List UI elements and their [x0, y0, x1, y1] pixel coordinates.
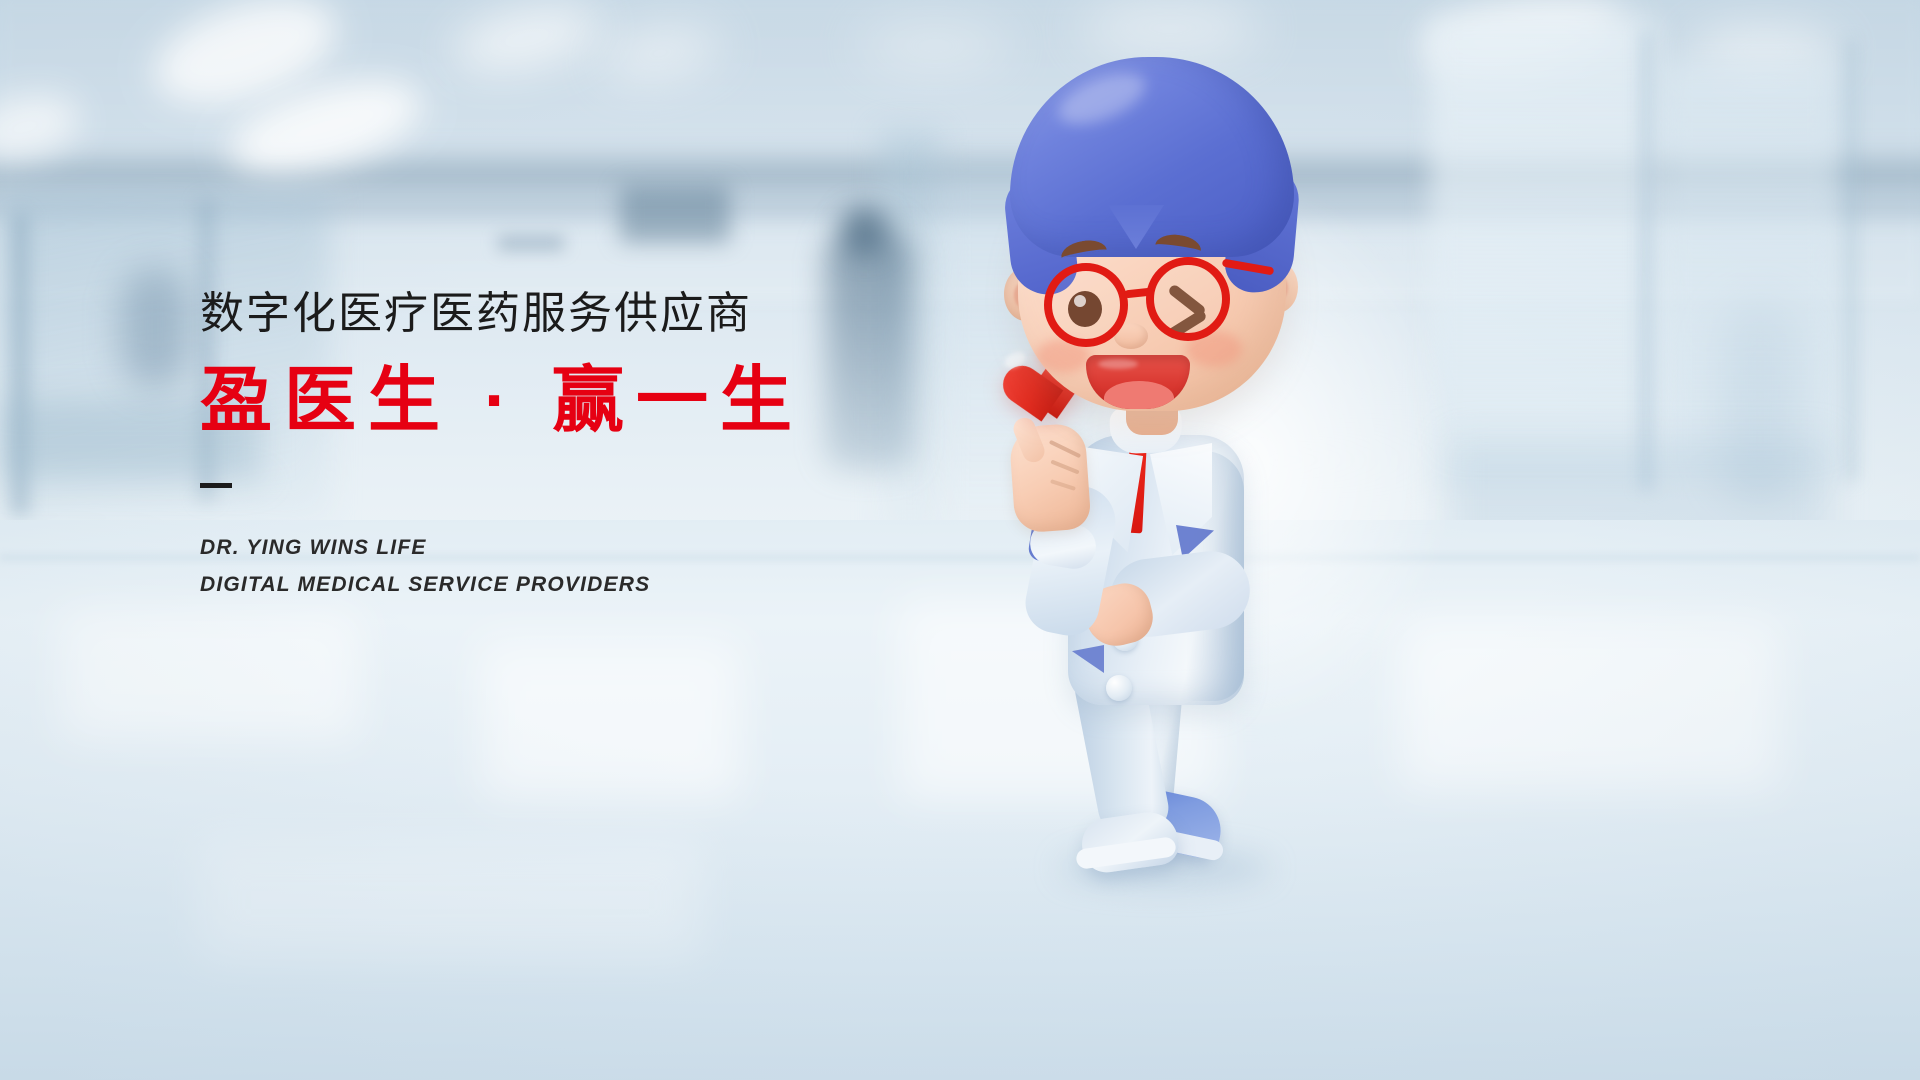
- glasses-lens-right: [1146, 257, 1230, 341]
- subtitle-line-1: DR. YING WINS LIFE: [200, 530, 960, 567]
- hero-banner: 数字化医疗医药服务供应商 盈医生 · 赢一生 DR. YING WINS LIF…: [0, 0, 1920, 1080]
- subtitle-english: DR. YING WINS LIFE DIGITAL MEDICAL SERVI…: [200, 530, 960, 604]
- tongue: [1104, 381, 1174, 409]
- hero-copy-block: 数字化医疗医药服务供应商 盈医生 · 赢一生 DR. YING WINS LIF…: [200, 288, 960, 604]
- coat-button: [1106, 675, 1132, 701]
- page-title: 盈医生 · 赢一生: [200, 360, 960, 444]
- divider-rule: [200, 483, 232, 488]
- doctor-mascot: [990, 55, 1330, 845]
- mouth-highlight: [1098, 359, 1138, 369]
- headline-chinese: 数字化医疗医药服务供应商: [200, 288, 960, 340]
- hair-cap: [1010, 57, 1294, 257]
- glasses-lens-left: [1044, 263, 1128, 347]
- subtitle-line-2: DIGITAL MEDICAL SERVICE PROVIDERS: [200, 567, 960, 604]
